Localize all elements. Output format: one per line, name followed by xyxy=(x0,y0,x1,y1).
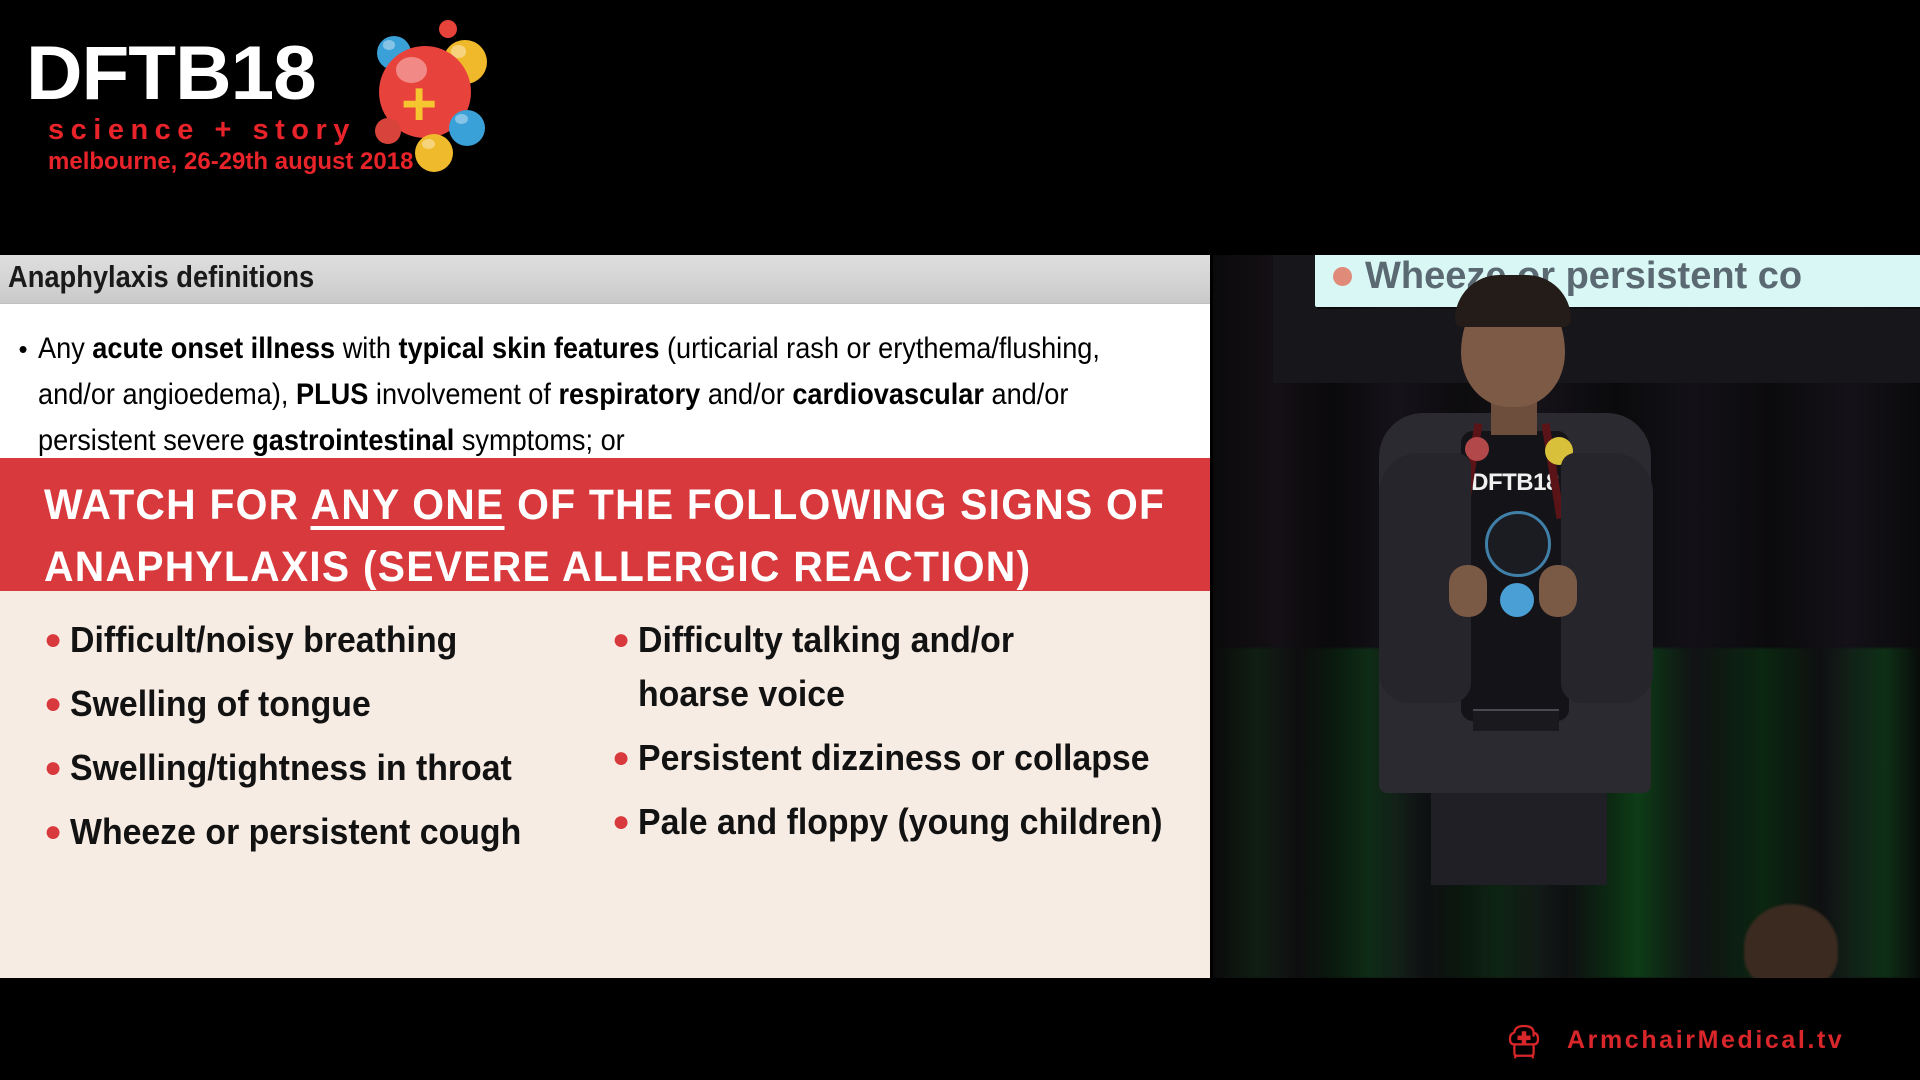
bullet-dot-icon: ● xyxy=(40,613,70,667)
definition-text: Any acute onset illness with typical ski… xyxy=(38,326,1105,464)
signs-column-left: ● Difficult/noisy breathing ● Swelling o… xyxy=(0,613,590,978)
banner-text-post: OF THE FOLLOWING SIGNS OF xyxy=(505,481,1166,529)
speaker-hand-left xyxy=(1449,565,1487,617)
speaker-video-feed: Wheeze or persistent co DFTB18 xyxy=(1213,255,1920,978)
presentation-slide: Anaphylaxis definitions • Any acute onse… xyxy=(0,255,1210,978)
slide-title-bar: Anaphylaxis definitions xyxy=(0,255,1210,304)
slide-title: Anaphylaxis definitions xyxy=(8,259,314,295)
list-item: ● Persistent dizziness or collapse xyxy=(608,731,1210,785)
list-item: ● Difficulty talking and/or hoarse voice xyxy=(608,613,1210,721)
bubble-blue-right xyxy=(449,110,485,146)
warning-banner-line-1: WATCH FOR ANY ONE OF THE FOLLOWING SIGNS… xyxy=(44,474,1152,536)
armchair-cross-icon xyxy=(1503,1019,1545,1061)
sign-label: Swelling of tongue xyxy=(70,677,371,731)
bullet-dot-icon: ● xyxy=(608,613,638,667)
armchair-medical-logo[interactable]: ArmchairMedical.tv xyxy=(1503,1019,1844,1061)
speaker-badge xyxy=(1485,511,1551,577)
list-item: ● Swelling of tongue xyxy=(40,677,590,731)
logo-bubbles-cluster: + xyxy=(371,18,491,178)
bubble-red-left xyxy=(375,118,401,144)
bullet-dot-icon: ● xyxy=(40,677,70,731)
logo-tagline: science + story xyxy=(48,114,356,147)
plus-icon: + xyxy=(401,74,437,136)
bullet-dot-icon: ● xyxy=(608,795,638,849)
bubble-red-dot xyxy=(439,20,457,38)
tshirt-bubble-red xyxy=(1465,437,1489,461)
speaker-hand-right xyxy=(1539,565,1577,617)
logo-dateline: melbourne, 26-29th august 2018 xyxy=(48,148,413,176)
bullet-icon: • xyxy=(8,326,38,372)
bullet-dot-icon: ● xyxy=(608,731,638,785)
dftb18-logo: DFTB18 science + story melbourne, 26-29t… xyxy=(26,18,476,198)
speaker-figure: DFTB18 xyxy=(1343,273,1673,863)
sign-label: Pale and floppy (young children) xyxy=(638,795,1163,849)
bubble-yellow-bottom xyxy=(415,134,453,172)
definition-item: • Any acute onset illness with typical s… xyxy=(8,326,1198,464)
branding-header: DFTB18 science + story melbourne, 26-29t… xyxy=(0,0,1920,252)
warning-banner: WATCH FOR ANY ONE OF THE FOLLOWING SIGNS… xyxy=(0,458,1210,591)
tshirt-bubble-blue xyxy=(1500,583,1534,617)
sign-label: Difficulty talking and/or hoarse voice xyxy=(638,613,1080,721)
sign-label: Persistent dizziness or collapse xyxy=(638,731,1150,785)
banner-text-emphasis: ANY ONE xyxy=(310,481,504,529)
bullet-dot-icon: ● xyxy=(40,741,70,795)
signs-panel: ● Difficult/noisy breathing ● Swelling o… xyxy=(0,591,1210,978)
speaker-belt xyxy=(1473,709,1559,731)
list-item: ● Swelling/tightness in throat xyxy=(40,741,590,795)
armchair-medical-wordmark: ArmchairMedical.tv xyxy=(1567,1026,1844,1055)
banner-text-pre: WATCH FOR xyxy=(44,481,310,529)
sign-label: Swelling/tightness in throat xyxy=(70,741,512,795)
list-item: ● Wheeze or persistent cough xyxy=(40,805,590,859)
bullet-dot-icon: ● xyxy=(40,805,70,859)
warning-banner-line-2: ANAPHYLAXIS (SEVERE ALLERGIC REACTION) xyxy=(44,536,1152,598)
speaker-hair xyxy=(1455,275,1571,327)
sign-label: Difficult/noisy breathing xyxy=(70,613,457,667)
list-item: ● Pale and floppy (young children) xyxy=(608,795,1210,849)
signs-column-right: ● Difficulty talking and/or hoarse voice… xyxy=(590,613,1210,978)
sign-label: Wheeze or persistent cough xyxy=(70,805,521,859)
logo-wordmark: DFTB18 xyxy=(26,36,316,112)
list-item: ● Difficult/noisy breathing xyxy=(40,613,590,667)
